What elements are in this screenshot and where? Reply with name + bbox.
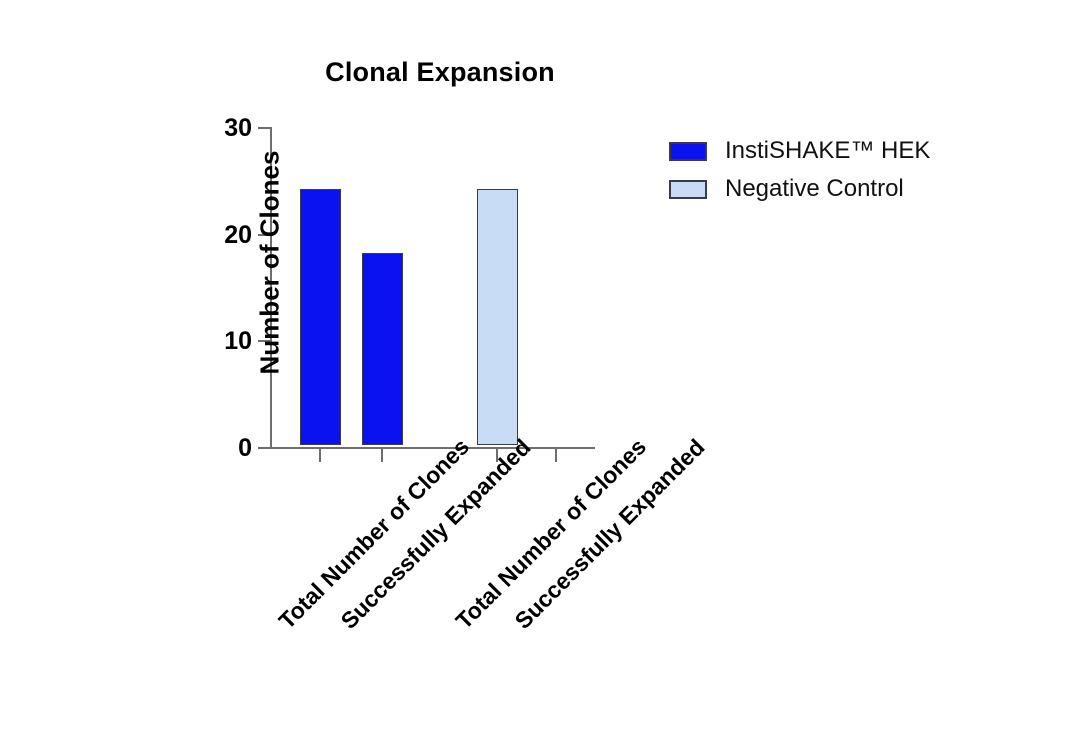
bar-total-number-of-clones-instishake [300,189,341,445]
chart-title: Clonal Expansion [140,57,740,88]
legend-item-instishake-hek: InstiSHAKE™ HEK [669,132,1049,170]
y-tick-label-10: 10 [224,327,252,356]
y-tick-label-30: 30 [224,114,252,143]
legend-swatch-icon-negative-control [669,180,707,199]
bar-total-number-of-clones-negative-control [477,189,518,445]
legend-label-negative-control: Negative Control [725,175,904,203]
y-tick-label-0: 0 [238,434,252,463]
x-tick-1 [319,449,321,462]
legend-item-negative-control: Negative Control [669,170,1049,208]
x-tick-4 [555,449,557,462]
y-tick-label-20: 20 [224,221,252,250]
x-tick-2 [381,449,383,462]
legend-label-instishake-hek: InstiSHAKE™ HEK [725,137,930,165]
plot-area: 30 20 10 0 Number of Clones Total Number… [270,127,595,447]
chart-figure: Clonal Expansion 30 20 10 0 Number of Cl… [0,0,1080,736]
chart-legend: InstiSHAKE™ HEK Negative Control [669,132,1049,208]
y-tick-0: 0 [258,447,270,449]
bar-successfully-expanded-instishake [362,253,403,445]
legend-swatch-icon-instishake-hek [669,142,707,161]
y-axis-title: Number of Clones [255,98,286,428]
